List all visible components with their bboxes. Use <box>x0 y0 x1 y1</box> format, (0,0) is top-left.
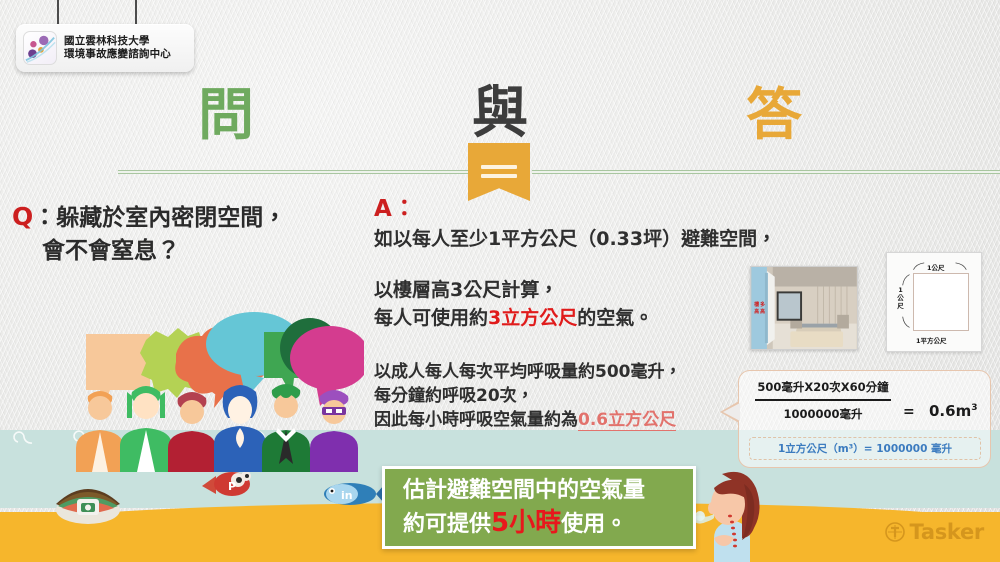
conclusion-pre: 約可提供 <box>403 512 491 537</box>
title-char-answer: 答 <box>746 88 802 144</box>
separator-line-right <box>532 170 1000 174</box>
answer-p3-line-2: 每分鐘約呼吸20次， <box>374 384 774 408</box>
answer-p2-highlight: 3立方公尺 <box>488 307 577 329</box>
square-label-bottom: 1平方公尺 <box>916 335 947 345</box>
organization-logo-sign: 國立雲林科技大學 環境事故應變諮詢中心 <box>16 24 194 72</box>
result-exponent: 3 <box>971 403 977 413</box>
answer-block: A： 如以每人至少1平方公尺（0.33坪）避難空間， 以樓層高3公尺計算， 每人… <box>374 196 774 432</box>
conclusion-post: 使用。 <box>561 512 627 537</box>
answer-p3-line-3: 因此每小時呼吸空氣量約為0.6立方公尺 <box>374 408 774 432</box>
conclusion-highlight: 5小時 <box>491 508 561 538</box>
people-speech-bubbles-illustration <box>58 292 364 472</box>
tasker-logo-icon <box>885 522 905 542</box>
callout-arrow-fill <box>723 403 740 421</box>
fish-linkedin-icon: in <box>316 472 386 516</box>
square-label-left: 1公尺 <box>896 286 905 310</box>
question-letter: Q <box>12 202 33 231</box>
question-line-2: 會不會窒息？ <box>12 235 362 268</box>
answer-p2-line-1: 以樓層高3公尺計算， <box>374 276 774 304</box>
calculation-result: 0.6m3 <box>929 402 977 420</box>
answer-p2-post: 的空氣。 <box>577 307 653 329</box>
conclusion-line-1: 估計避難空間中的空氣量 <box>403 474 693 507</box>
clam-camera-icon <box>48 466 128 526</box>
answer-paragraph-2: 以樓層高3公尺計算， 每人可使用約3立方公尺的空氣。 <box>374 276 774 332</box>
answer-letter: A <box>374 196 393 222</box>
svg-text:高: 高 <box>760 308 765 315</box>
question-line-1: Q：躲藏於室內密閉空間， <box>12 200 362 235</box>
ribbon-bar-bottom <box>481 174 517 178</box>
conclusion-box: 估計避難空間中的空氣量 約可提供5小時使用。 <box>382 466 696 549</box>
answer-p2-pre: 每人可使用約 <box>374 307 488 329</box>
watermark-text: Tasker <box>910 520 985 544</box>
ribbon-banner <box>468 143 530 201</box>
organization-name: 國立雲林科技大學 環境事故應變諮詢中心 <box>64 35 171 61</box>
result-value: 0.6m <box>929 402 971 420</box>
square-label-top: 1公尺 <box>927 262 945 272</box>
separator-line-left <box>118 170 468 174</box>
conclusion-line-2: 約可提供5小時使用。 <box>403 507 693 541</box>
bedroom-interior-photo: 樓高 多高 <box>750 266 858 350</box>
square-outline <box>913 273 969 331</box>
calculation-callout: 500毫升X20次X60分鐘 1000000毫升 = 0.6m3 1立方公尺（m… <box>738 370 991 468</box>
answer-letter-row: A： <box>374 196 774 222</box>
svg-text:樓: 樓 <box>754 301 759 308</box>
answer-p3-pre: 因此每小時呼吸空氣量約為 <box>374 410 578 430</box>
svg-text:多: 多 <box>760 301 765 308</box>
logo-line-1: 國立雲林科技大學 <box>64 35 171 48</box>
square-meter-diagram: 1公尺 1公尺 1平方公尺 <box>886 252 982 352</box>
answer-p3-highlight: 0.6立方公尺 <box>578 410 676 431</box>
answer-paragraph-3: 以成人每人每次平均呼吸量約500毫升， 每分鐘約呼吸20次， 因此每小時呼吸空氣… <box>374 360 774 432</box>
fraction-denominator: 1000000毫升 <box>753 406 893 422</box>
svg-text:高: 高 <box>754 308 759 315</box>
svg-text:in: in <box>341 489 353 502</box>
title-char-question: 問 <box>198 88 254 144</box>
answer-paragraph-1: 如以每人至少1平方公尺（0.33坪）避難空間， <box>374 225 774 253</box>
question-colon: ： <box>33 205 56 231</box>
title-char-and: 與 <box>472 86 528 142</box>
question-text-1: 躲藏於室內密閉空間， <box>56 205 286 231</box>
logo-line-2: 環境事故應變諮詢中心 <box>64 48 171 61</box>
unit-conversion-note: 1立方公尺（m³）= 1000000 毫升 <box>749 437 981 460</box>
tasker-watermark: Tasker <box>885 520 985 544</box>
answer-p2-line-2: 每人可使用約3立方公尺的空氣。 <box>374 304 774 332</box>
fraction-bar <box>755 399 891 401</box>
answer-colon: ： <box>393 196 417 222</box>
ribbon-bar-top <box>481 165 517 169</box>
girl-breathing-illustration <box>684 466 780 562</box>
calculation-fraction: 500毫升X20次X60分鐘 1000000毫升 <box>753 379 893 422</box>
molecule-logo-icon <box>23 31 57 65</box>
slide-canvas: P in 國立雲林科技大學 環境事故應變諮詢中心 問 與 答 <box>0 0 1000 562</box>
svg-text:P: P <box>228 480 236 493</box>
answer-p3-line-1: 以成人每人每次平均呼吸量約500毫升， <box>374 360 774 384</box>
fraction-numerator: 500毫升X20次X60分鐘 <box>753 379 893 395</box>
equals-sign: = <box>903 404 915 420</box>
question-block: Q：躲藏於室內密閉空間， 會不會窒息？ <box>12 200 362 268</box>
